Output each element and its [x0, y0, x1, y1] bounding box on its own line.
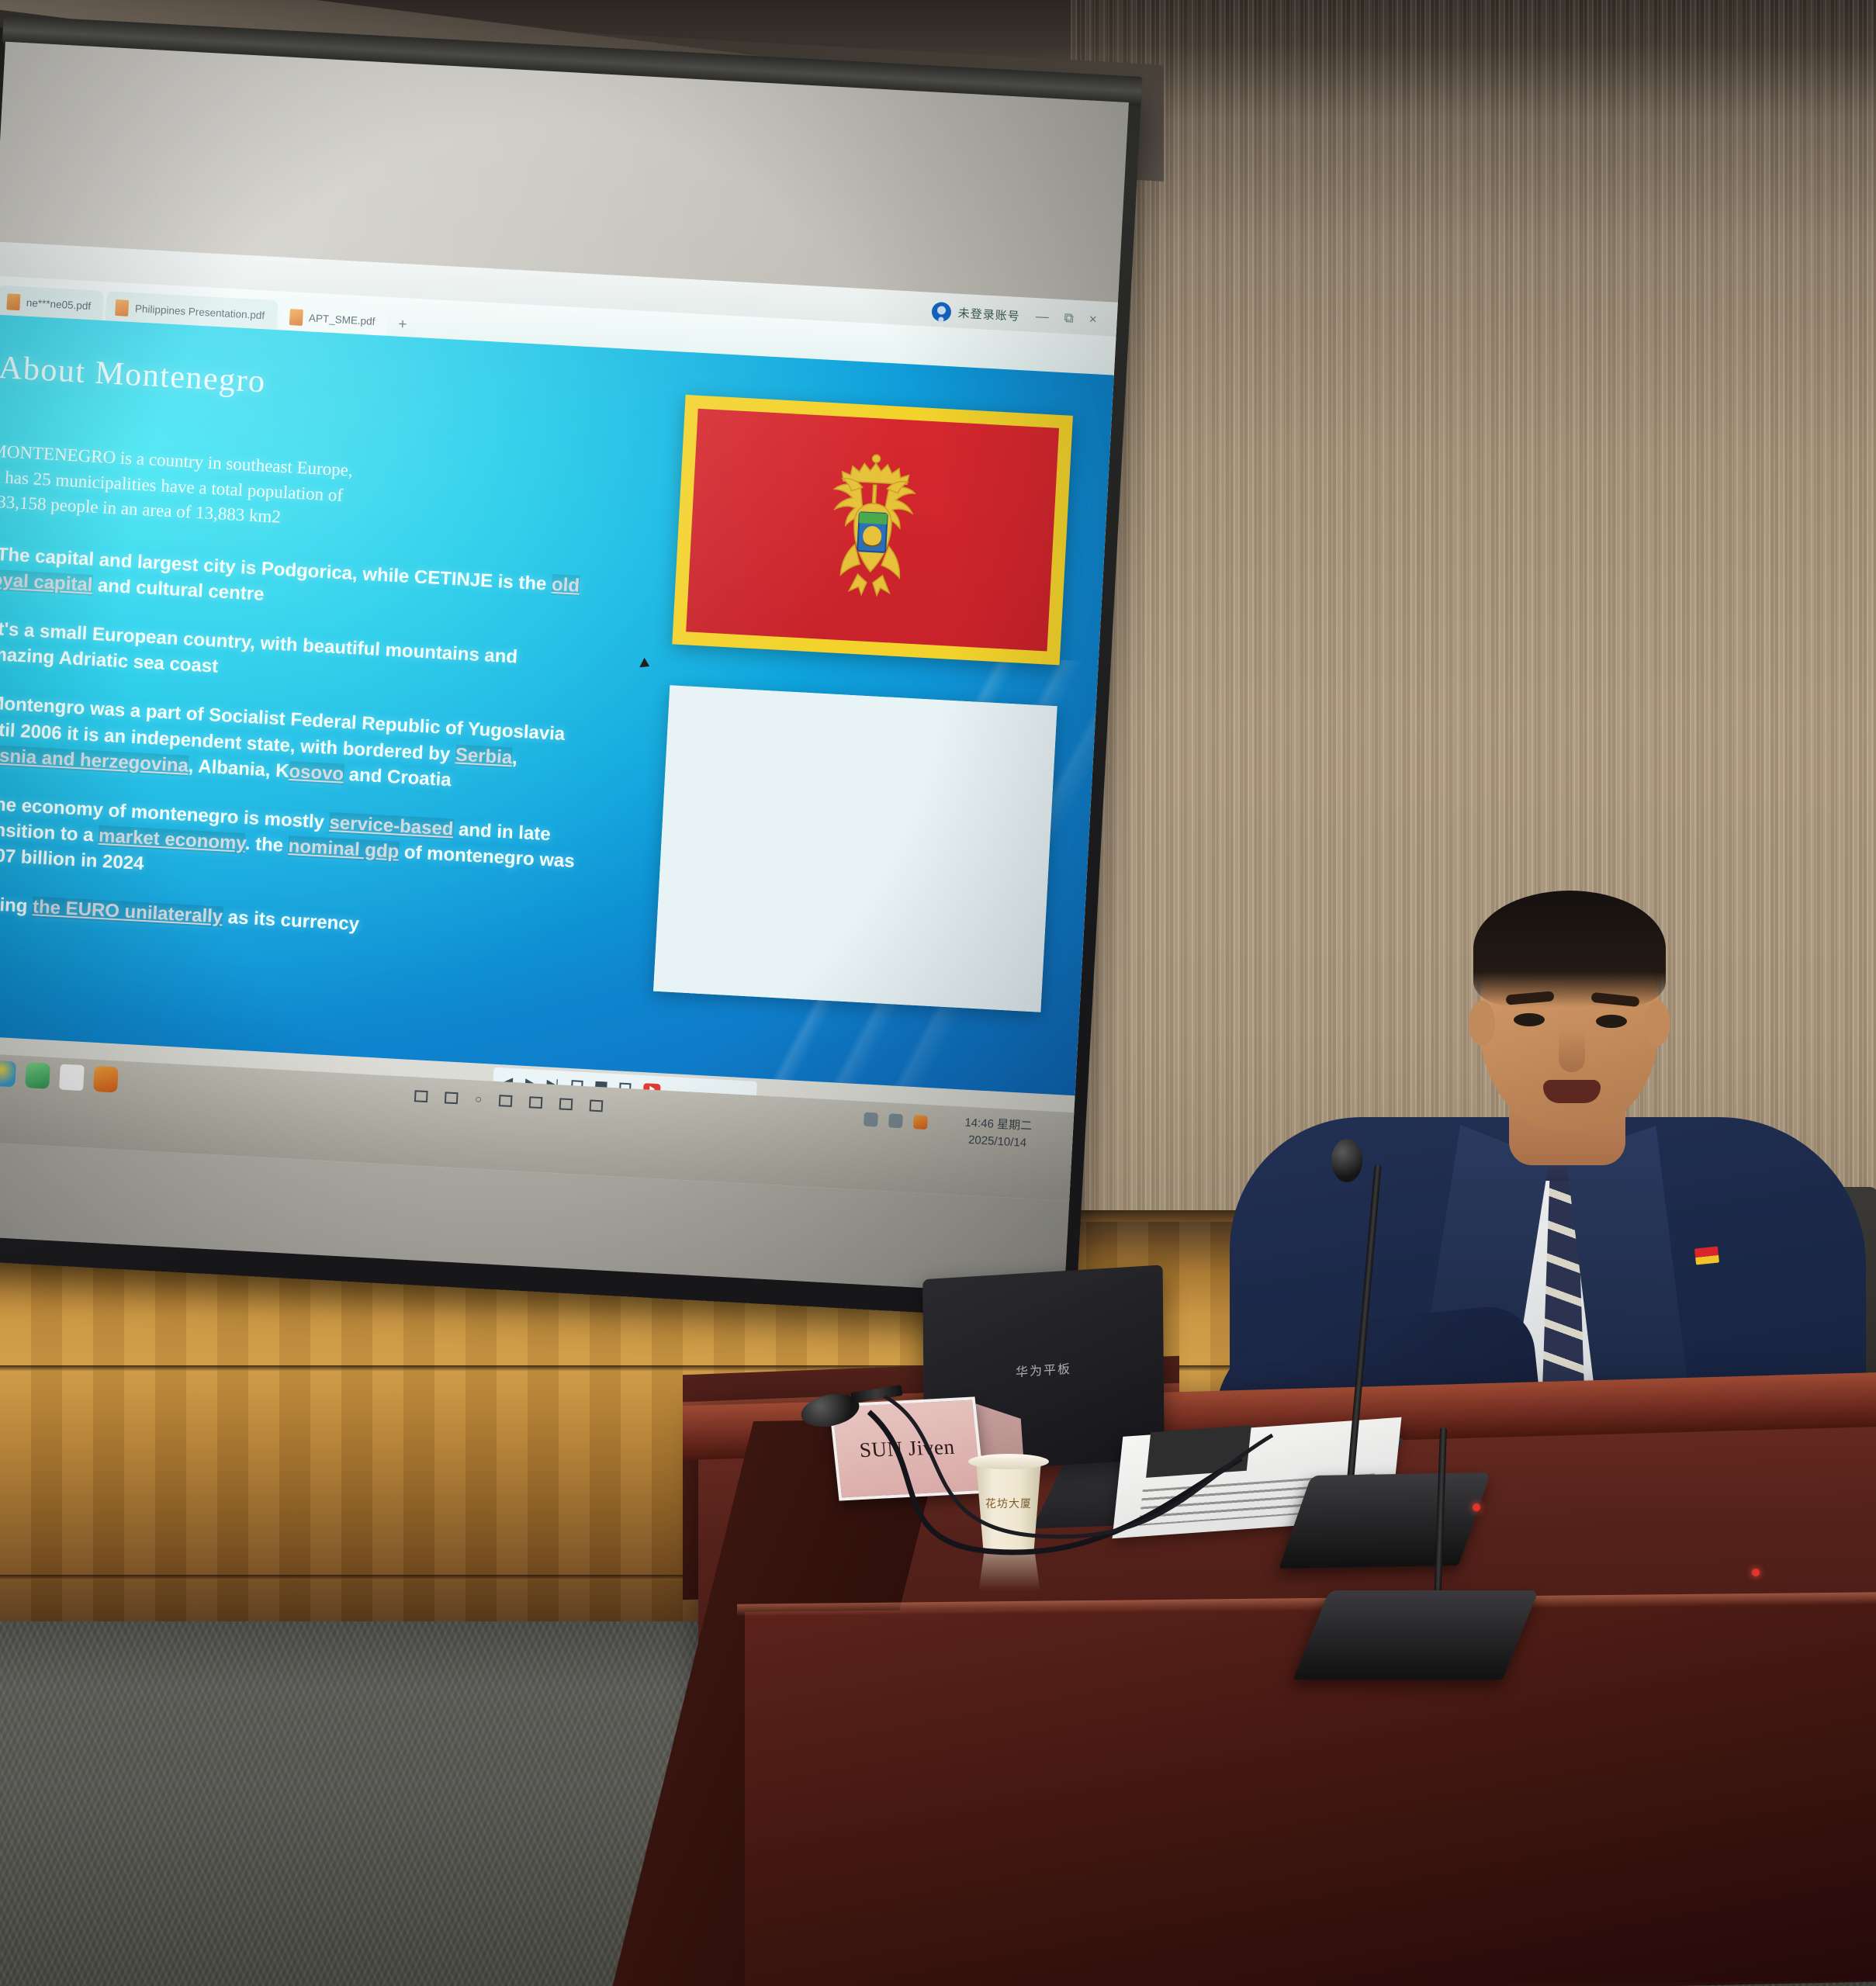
- montenegro-flag-pin-icon: [1694, 1246, 1719, 1265]
- white-window-icon[interactable]: [59, 1064, 85, 1091]
- list-icon[interactable]: [529, 1096, 543, 1109]
- pdf-file-icon: [115, 299, 129, 316]
- browser-icon[interactable]: [445, 1092, 459, 1104]
- hair: [1473, 891, 1666, 1007]
- slide-bullet-text: and Croatia: [343, 763, 452, 790]
- orange-pdf-icon[interactable]: [93, 1066, 119, 1093]
- slide-bullet-text: and cultural centre: [92, 575, 265, 605]
- eye-left: [1514, 1013, 1545, 1026]
- tab-label: Philippines Presentation.pdf: [135, 303, 265, 321]
- slide-bullet-text: - It's a small European country, with be…: [0, 618, 518, 677]
- taskbar-clock[interactable]: 14:46 星期二 2025/10/14: [964, 1115, 1033, 1152]
- microphone-indicator-light: [1752, 1569, 1760, 1576]
- window-icon[interactable]: [590, 1099, 604, 1112]
- slide-hyperlink[interactable]: service-based: [329, 812, 454, 840]
- taskbar-app-icons: [0, 1058, 119, 1092]
- slide-hyperlink[interactable]: the EURO unilaterally: [32, 896, 223, 927]
- slide-bullet: - It's a small European country, with be…: [0, 615, 587, 699]
- conference-room-photo: 未登录账号 — ⧉ × ne***ne05.pdf Philippines Pr…: [0, 0, 1876, 1986]
- search-icon[interactable]: ○: [475, 1092, 483, 1105]
- mouth: [1543, 1080, 1601, 1103]
- slide-bullet: - The capital and largest city is Podgor…: [0, 541, 590, 625]
- tab-label: ne***ne05.pdf: [26, 296, 91, 311]
- slide-hyperlink[interactable]: market economy: [98, 825, 245, 854]
- slide-hyperlink[interactable]: Serbia: [455, 744, 513, 768]
- eye-right: [1596, 1015, 1627, 1028]
- presentation-slide: About Montenegro MONTENEGRO is a country…: [0, 314, 1114, 1095]
- new-tab-button[interactable]: +: [389, 316, 415, 339]
- folder-icon[interactable]: [414, 1090, 428, 1102]
- slide-bullet: - using the EURO unilaterally as its cur…: [0, 891, 572, 949]
- slide-bullet-text: , Albania, K: [188, 756, 289, 782]
- slide-body: MONTENEGRO is a country in southeast Eur…: [0, 439, 596, 972]
- projected-os-window: 未登录账号 — ⧉ × ne***ne05.pdf Philippines Pr…: [0, 241, 1118, 1201]
- browser-account[interactable]: 未登录账号: [931, 301, 1020, 325]
- slide-bullet-text: ,: [511, 747, 517, 768]
- map-sea: [653, 685, 1057, 1012]
- cable-bundle: [838, 1365, 1381, 1629]
- slide-hyperlink[interactable]: nominal gdp: [288, 836, 400, 863]
- account-avatar-icon: [931, 301, 951, 321]
- slide-hyperlink[interactable]: osovo: [289, 761, 344, 785]
- clock-date: 2025/10/14: [964, 1131, 1032, 1151]
- ear-left: [1469, 1001, 1495, 1046]
- tab-label: APT_SME.pdf: [309, 312, 376, 327]
- pdf-file-icon: [289, 309, 303, 326]
- close-button[interactable]: ×: [1089, 312, 1097, 328]
- slide-bullet: - The economy of montenegro is mostly se…: [0, 791, 577, 900]
- montenegro-flag-image: [672, 395, 1073, 666]
- minimize-button[interactable]: —: [1035, 309, 1049, 325]
- slide-bullet-text: . the: [244, 833, 289, 856]
- slide-bullet: - Montengro was a part of Socialist Fede…: [0, 690, 583, 799]
- microphone-head: [1331, 1139, 1362, 1182]
- slide-bullet-text: - using: [0, 893, 33, 918]
- mail-icon[interactable]: [499, 1095, 513, 1107]
- green-app-icon[interactable]: [25, 1062, 50, 1089]
- slide-title: About Montenegro: [0, 349, 267, 401]
- nose: [1559, 1029, 1585, 1072]
- europe-map-image: [653, 685, 1057, 1012]
- restore-button[interactable]: ⧉: [1064, 310, 1074, 327]
- screen-surface: 未登录账号 — ⧉ × ne***ne05.pdf Philippines Pr…: [0, 42, 1129, 1296]
- microphone-indicator-light: [1473, 1503, 1480, 1511]
- flag-red-field: [686, 409, 1059, 652]
- chat-icon[interactable]: [559, 1098, 573, 1110]
- pdf-tray-icon[interactable]: [913, 1115, 928, 1130]
- volume-icon[interactable]: [888, 1113, 903, 1128]
- rainbow-app-icon[interactable]: [0, 1060, 16, 1088]
- account-name-label: 未登录账号: [957, 304, 1020, 324]
- pdf-file-icon: [6, 293, 20, 310]
- network-icon[interactable]: [864, 1112, 878, 1127]
- projection-screen: 未登录账号 — ⧉ × ne***ne05.pdf Philippines Pr…: [0, 27, 1142, 1321]
- slide-bullet-list: - The capital and largest city is Podgor…: [0, 541, 590, 949]
- double-headed-eagle-icon: [806, 449, 939, 611]
- taskbar-center-icons: ○: [414, 1089, 604, 1112]
- ear-right: [1644, 1001, 1670, 1046]
- taskbar-tray-icons: [864, 1112, 928, 1130]
- slide-bullet-text: as its currency: [222, 907, 359, 935]
